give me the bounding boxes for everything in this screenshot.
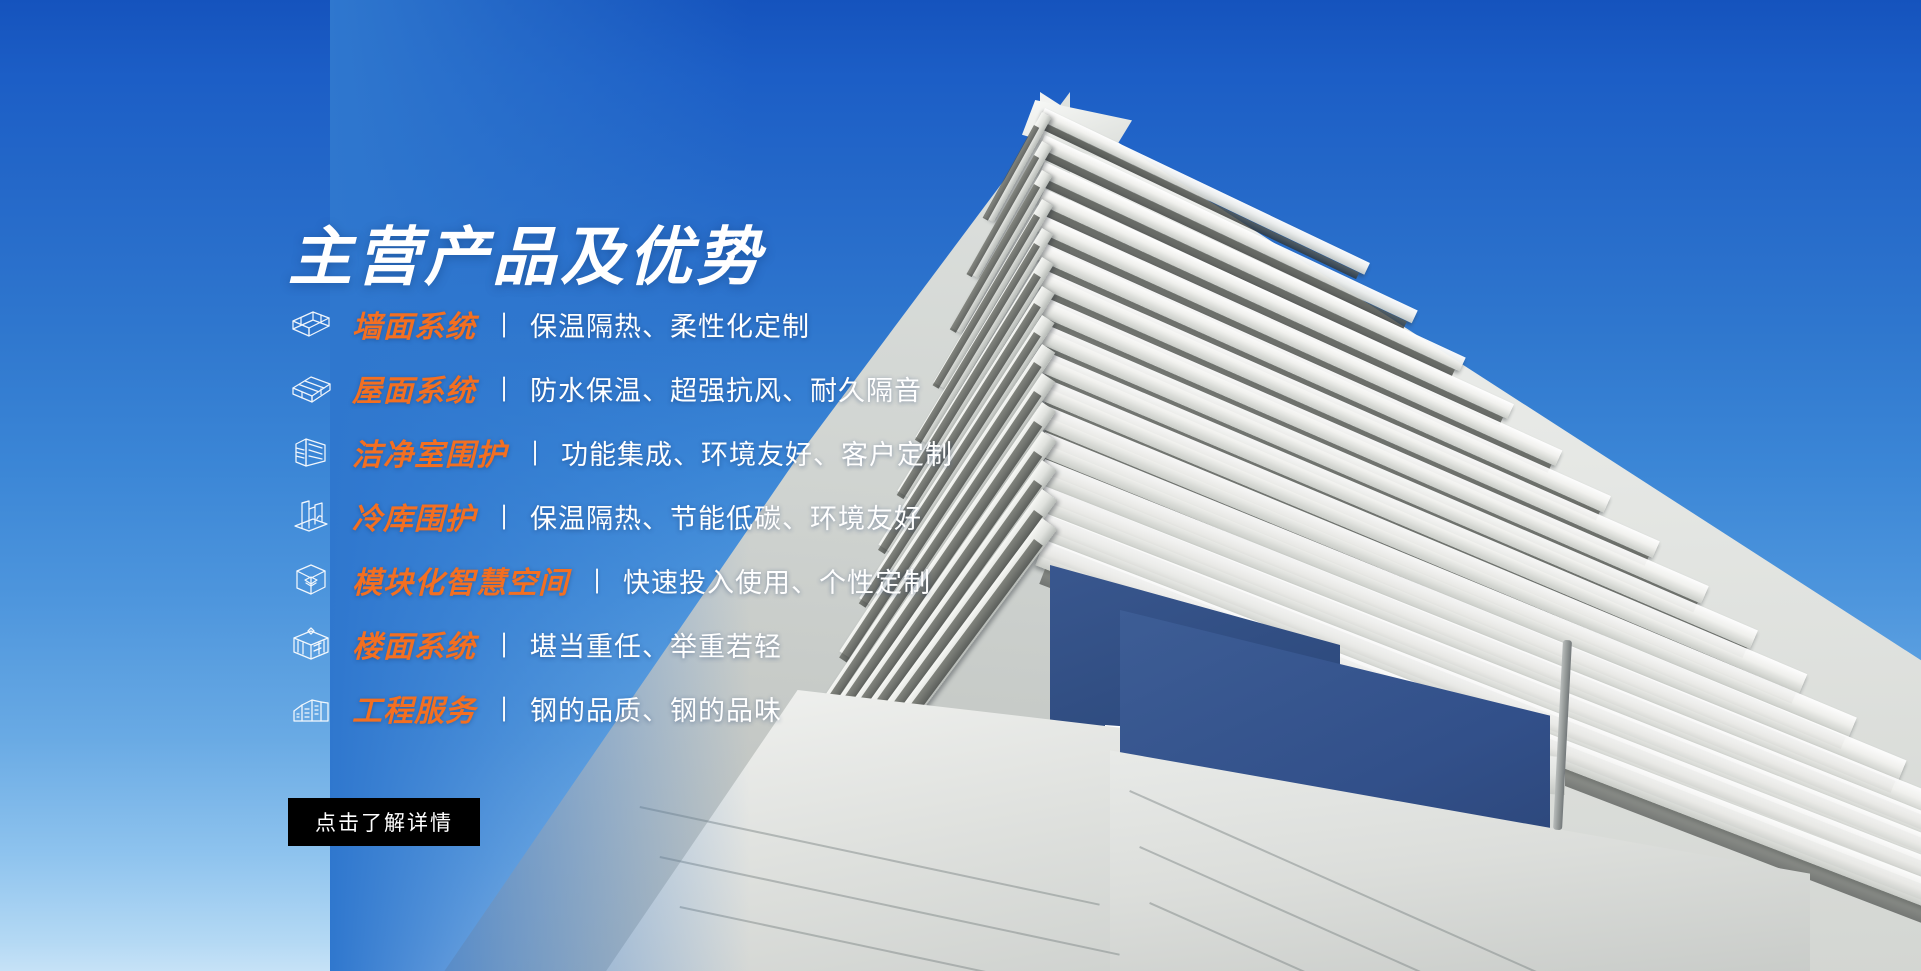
product-category-label: 工程服务 <box>352 686 476 730</box>
product-description-label: 钢的品质、钢的品味 <box>530 689 782 728</box>
cold-storage-icon <box>288 495 334 537</box>
cleanroom-building-icon <box>288 431 334 473</box>
product-description-label: 功能集成、环境友好、客户定制 <box>561 433 953 472</box>
product-list-item[interactable]: 屋面系统丨防水保温、超强抗风、耐久隔音 <box>288 356 953 420</box>
learn-more-button[interactable]: 点击了解详情 <box>288 798 480 846</box>
list-item-divider: 丨 <box>496 690 512 727</box>
list-item-divider: 丨 <box>589 562 605 599</box>
list-item-divider: 丨 <box>527 434 543 471</box>
product-list-item[interactable]: 工程服务丨钢的品质、钢的品味 <box>288 676 953 740</box>
engineering-service-icon <box>288 687 334 729</box>
hero-banner: 主营产品及优势 墙面系统丨保温隔热、柔性化定制 屋面系统丨防水保温、超强抗风、耐… <box>0 0 1921 971</box>
product-list: 墙面系统丨保温隔热、柔性化定制 屋面系统丨防水保温、超强抗风、耐久隔音 洁净室围… <box>288 292 953 740</box>
list-item-divider: 丨 <box>496 498 512 535</box>
product-category-label: 墙面系统 <box>352 302 476 346</box>
product-list-item[interactable]: 洁净室围护丨功能集成、环境友好、客户定制 <box>288 420 953 484</box>
list-item-divider: 丨 <box>496 626 512 663</box>
product-category-label: 洁净室围护 <box>352 430 507 474</box>
list-item-divider: 丨 <box>496 306 512 343</box>
product-description-label: 快速投入使用、个性定制 <box>623 561 931 600</box>
roof-panel-icon <box>288 367 334 409</box>
product-description-label: 保温隔热、节能低碳、环境友好 <box>530 497 922 536</box>
product-category-label: 冷库围护 <box>352 494 476 538</box>
wall-panel-icon <box>288 303 334 345</box>
floor-system-icon <box>288 623 334 665</box>
product-description-label: 防水保温、超强抗风、耐久隔音 <box>530 369 922 408</box>
product-description-label: 堪当重任、举重若轻 <box>530 625 782 664</box>
list-item-divider: 丨 <box>496 370 512 407</box>
product-list-item[interactable]: 冷库围护丨保温隔热、节能低碳、环境友好 <box>288 484 953 548</box>
product-description-label: 保温隔热、柔性化定制 <box>530 305 810 344</box>
product-list-item[interactable]: 墙面系统丨保温隔热、柔性化定制 <box>288 292 953 356</box>
modular-cube-icon <box>288 559 334 601</box>
product-list-item[interactable]: 模块化智慧空间丨快速投入使用、个性定制 <box>288 548 953 612</box>
product-category-label: 模块化智慧空间 <box>352 558 569 602</box>
page-title: 主营产品及优势 <box>288 206 764 298</box>
banner-content: 主营产品及优势 墙面系统丨保温隔热、柔性化定制 屋面系统丨防水保温、超强抗风、耐… <box>0 0 1000 971</box>
product-list-item[interactable]: 楼面系统丨堪当重任、举重若轻 <box>288 612 953 676</box>
product-category-label: 屋面系统 <box>352 366 476 410</box>
product-category-label: 楼面系统 <box>352 622 476 666</box>
